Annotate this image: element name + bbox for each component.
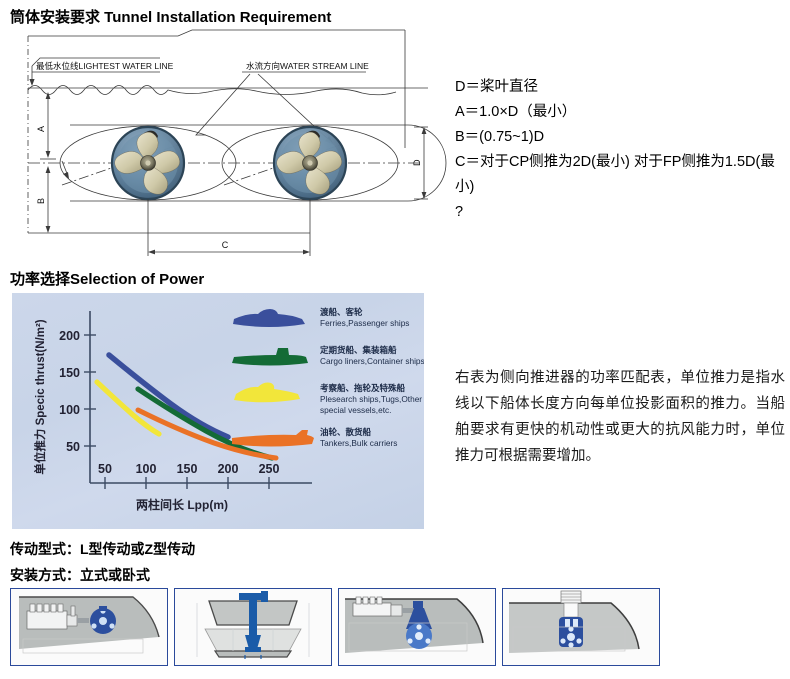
legend-label-research-en: Plesearch ships,Tugs,Other <box>320 394 422 404</box>
legend-label-cargo-en: Cargo liners,Container ships <box>320 356 424 366</box>
thruster-unit-icon <box>406 623 432 649</box>
dimension-a-label: A <box>36 126 46 132</box>
svg-text:200: 200 <box>59 329 80 343</box>
tunnel-section-heading: 筒体安装要求 Tunnel Installation Requirement <box>10 6 331 27</box>
legend-label-ferries-en: Ferries,Passenger ships <box>320 318 409 328</box>
legend-label-tankers-en: Tankers,Bulk carriers <box>320 438 397 448</box>
legend-label-research-cn: 考察船、拖轮及特殊船 <box>320 383 406 393</box>
installation-thumbnail-row <box>10 588 670 668</box>
thumb-vertical-z-drive-section[interactable] <box>174 588 332 666</box>
formula-line-b: B＝(0.75~1)D <box>455 125 785 150</box>
formula-line-d: D＝桨叶直径 <box>455 75 785 100</box>
specific-thrust-chart: 200150 10050 50100 150200 250 单位推力 Speci… <box>12 293 424 529</box>
vertical-thruster-icon <box>559 617 583 648</box>
svg-text:50: 50 <box>66 440 80 454</box>
legend-icon-cargo <box>232 348 308 366</box>
power-section-heading: 功率选择Selection of Power <box>10 268 204 289</box>
thumb-vertical-mount-thruster[interactable] <box>502 588 660 666</box>
legend-label-ferries-cn: 渡船、客轮 <box>320 307 363 317</box>
chart-legend: 渡船、客轮 Ferries,Passenger ships 定期货船、集装箱船 … <box>232 307 424 448</box>
drive-type-line: 传动型式：L型传动或Z型传动 <box>10 539 195 559</box>
legend-label-tankers-cn: 油轮、散货船 <box>320 427 372 437</box>
legend-label-research-en2: special vessels,etc. <box>320 405 391 415</box>
legend-label-cargo-cn: 定期货船、集装箱船 <box>319 345 397 355</box>
svg-text:100: 100 <box>136 462 157 476</box>
y-axis-title: 单位推力 Specic thrust(N/m²) <box>33 319 47 474</box>
mounting-type-line: 安装方式：立式或卧式 <box>10 565 150 585</box>
svg-text:50: 50 <box>98 462 112 476</box>
dimension-b-label: B <box>36 198 46 204</box>
svg-text:100: 100 <box>59 403 80 417</box>
svg-text:200: 200 <box>218 462 239 476</box>
legend-icon-ferries <box>233 309 305 327</box>
svg-text:150: 150 <box>177 462 198 476</box>
thumb-engine-above-z-drive[interactable] <box>338 588 496 666</box>
thrust-note-paragraph: 右表为侧向推进器的功率匹配表，单位推力是指水线以下船体长度方向每单位投影面积的推… <box>455 365 785 469</box>
y-axis-labels: 200150 10050 <box>59 329 80 454</box>
formula-line-c: C＝对于CP侧推为2D(最小) 对于FP侧推为1.5D(最小) <box>455 150 785 200</box>
x-axis-labels: 50100 150200 250 <box>98 462 279 476</box>
tunnel-installation-drawing: 最低水位线LIGHTEST WATER LINE 水流方向WATER STREA… <box>10 28 450 263</box>
dimension-d-label: D <box>412 159 422 166</box>
svg-text:150: 150 <box>59 366 80 380</box>
x-axis-title: 两柱间长 Lpp(m) <box>136 497 228 512</box>
legend-icon-research <box>234 383 300 403</box>
formula-line-query: ? <box>455 200 785 225</box>
formula-list: D＝桨叶直径 A＝1.0×D（最小） B＝(0.75~1)D C＝对于CP侧推为… <box>455 75 785 225</box>
lightest-water-line-label: 最低水位线LIGHTEST WATER LINE <box>36 61 174 71</box>
dimension-c-label: C <box>222 240 229 250</box>
legend-icon-tankers <box>232 430 314 447</box>
thumb-horizontal-engine-thruster[interactable] <box>10 588 168 666</box>
water-stream-line-label: 水流方向WATER STREAM LINE <box>246 61 369 71</box>
formula-line-a: A＝1.0×D（最小） <box>455 100 785 125</box>
svg-text:250: 250 <box>259 462 280 476</box>
